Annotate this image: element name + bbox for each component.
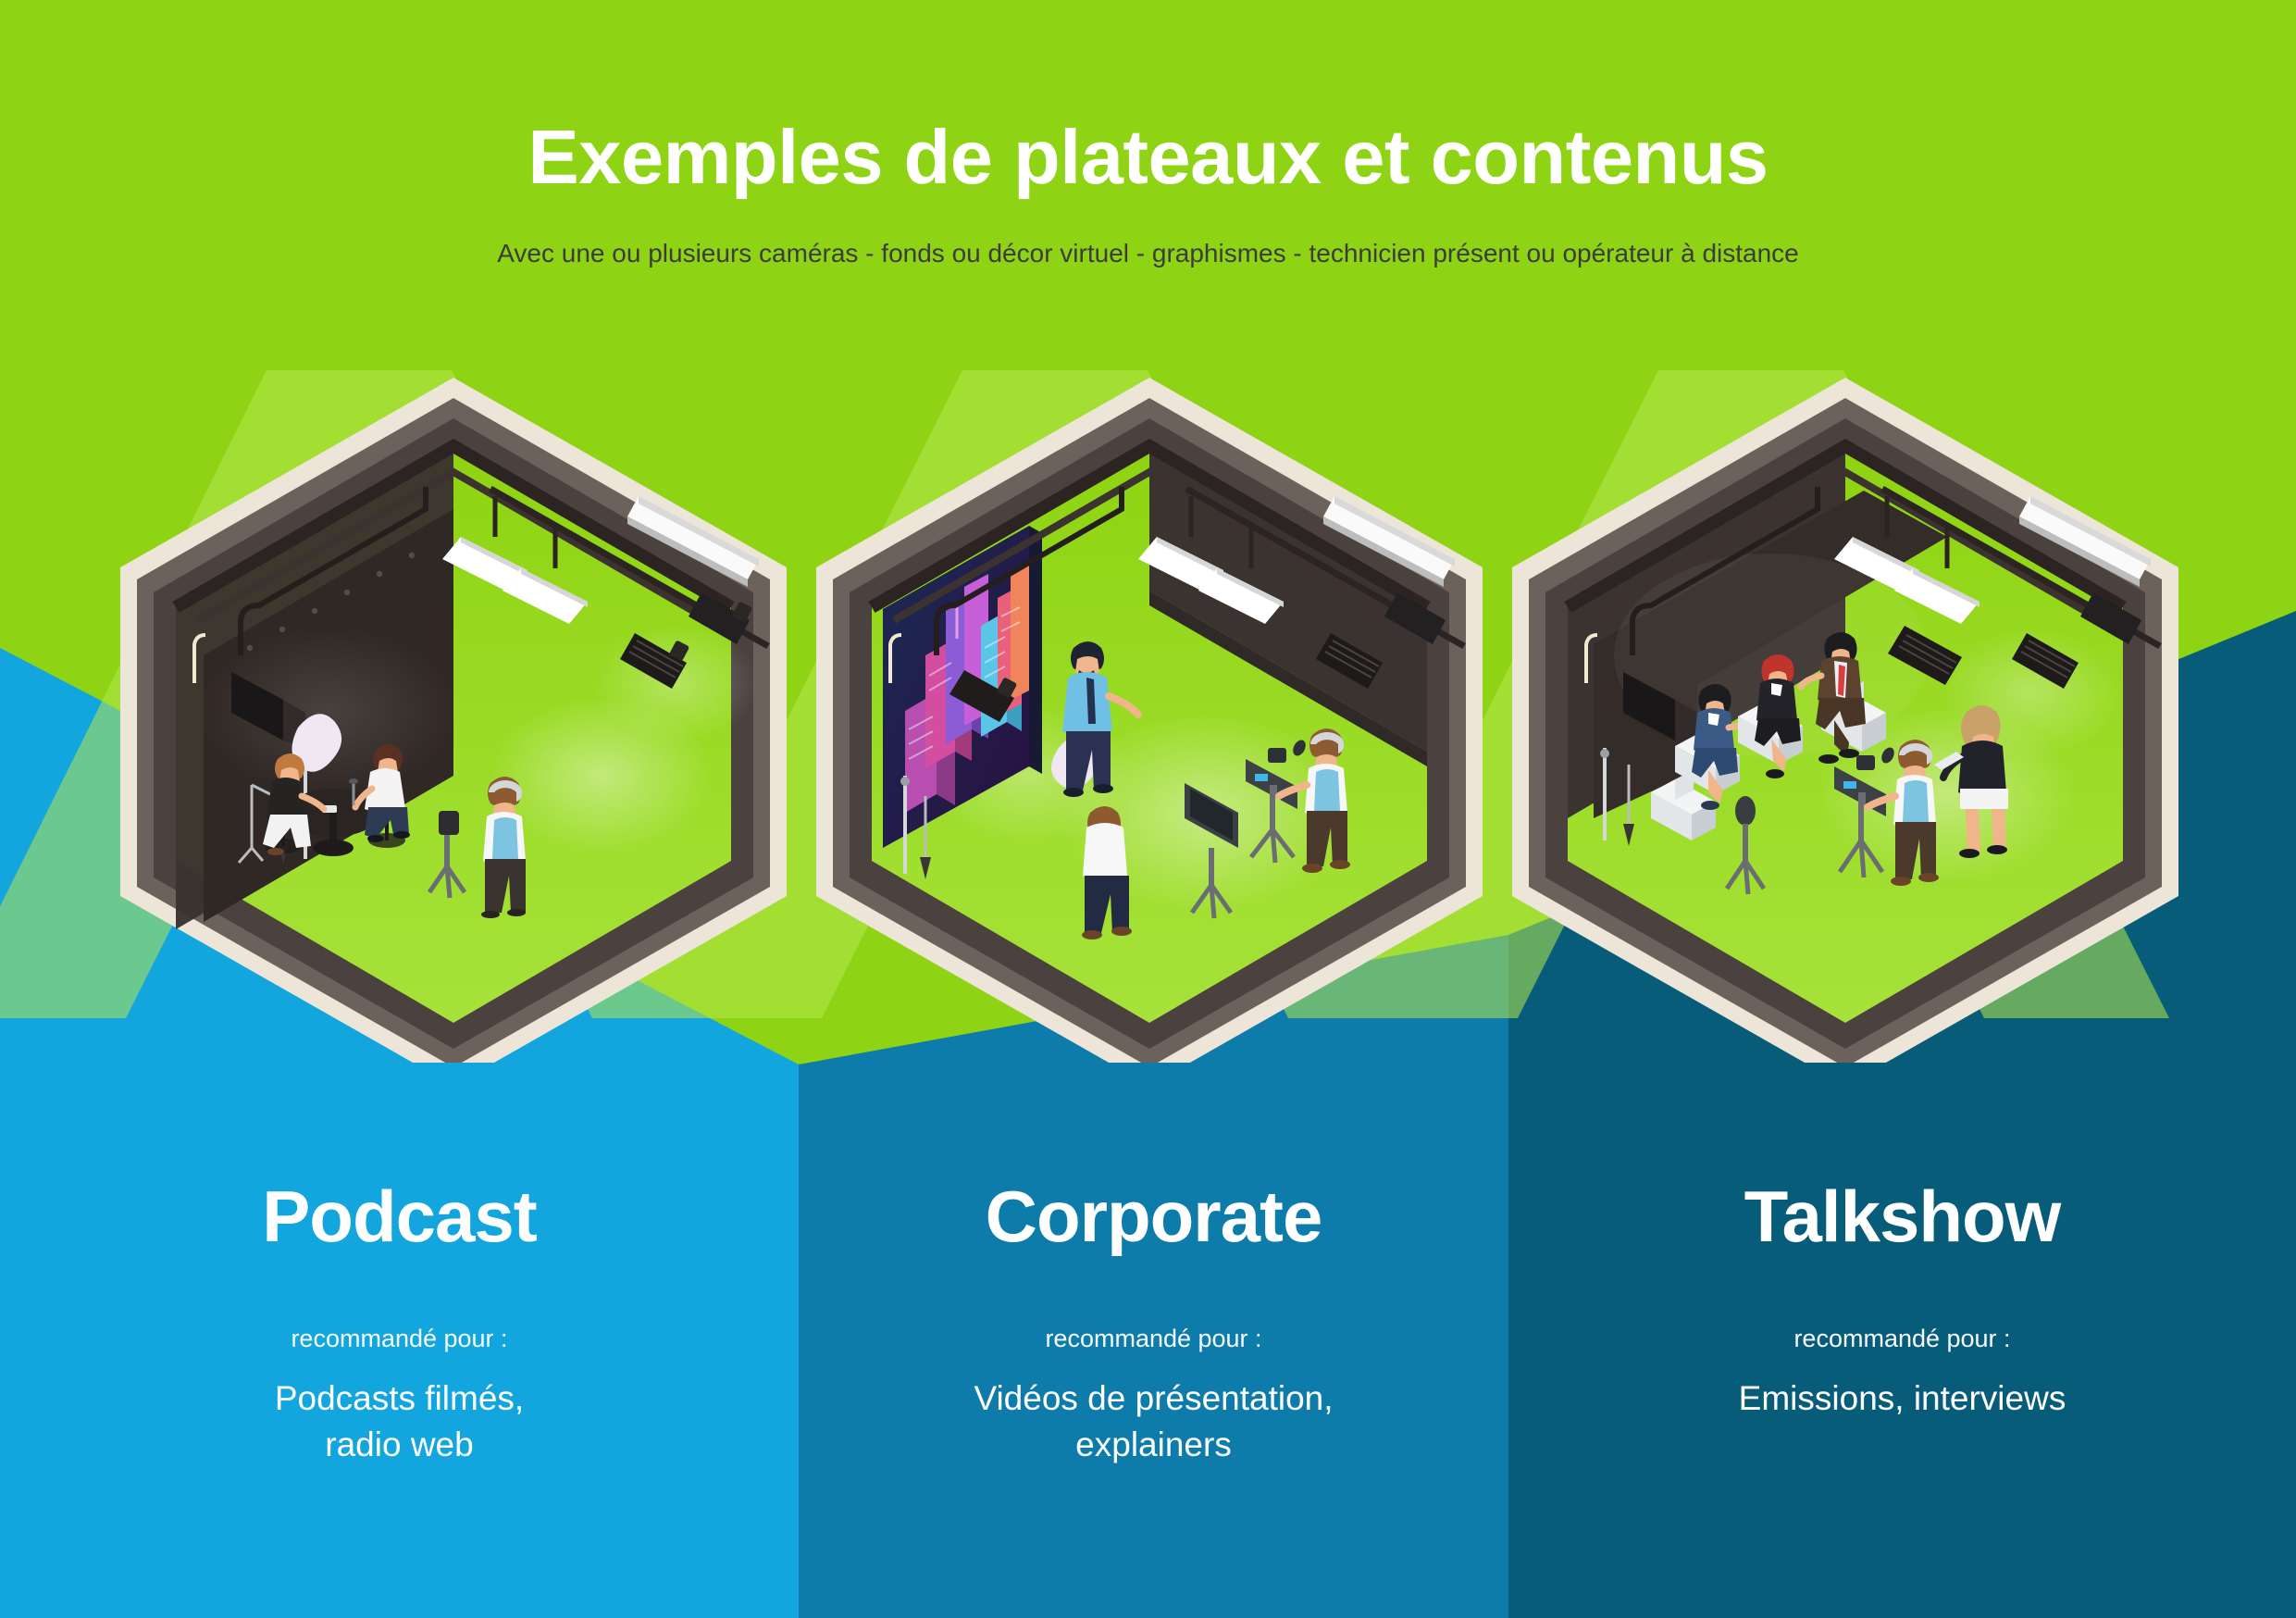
- column-title-talkshow: Talkshow: [1508, 1180, 2296, 1252]
- column-description-podcast: Podcasts filmés, radio web: [0, 1375, 799, 1468]
- column-description-corporate: Vidéos de présentation, explainers: [799, 1375, 1508, 1468]
- column-reco-label-podcast: recommandé pour :: [0, 1325, 799, 1353]
- studio-illustration-talkshow: [1512, 378, 2253, 1063]
- column-reco-label-talkshow: recommandé pour :: [1508, 1325, 2296, 1353]
- column-reco-label-corporate: recommandé pour :: [799, 1325, 1508, 1353]
- column-corporate: Corporate recommandé pour : Vidéos de pr…: [799, 1180, 1508, 1468]
- column-description-talkshow: Emissions, interviews: [1508, 1375, 2296, 1422]
- studio-illustration-podcast: [120, 378, 861, 1063]
- column-podcast: Podcast recommandé pour : Podcasts filmé…: [0, 1180, 799, 1468]
- column-title-podcast: Podcast: [0, 1180, 799, 1252]
- column-title-corporate: Corporate: [799, 1180, 1508, 1252]
- page-title: Exemples de plateaux et contenus: [0, 118, 2296, 195]
- studio-illustration-corporate: [816, 378, 1557, 1063]
- page-subtitle: Avec une ou plusieurs caméras - fonds ou…: [0, 239, 2296, 268]
- column-talkshow: Talkshow recommandé pour : Emissions, in…: [1508, 1180, 2296, 1422]
- slide-canvas: Exemples de plateaux et contenus Avec un…: [0, 0, 2296, 1618]
